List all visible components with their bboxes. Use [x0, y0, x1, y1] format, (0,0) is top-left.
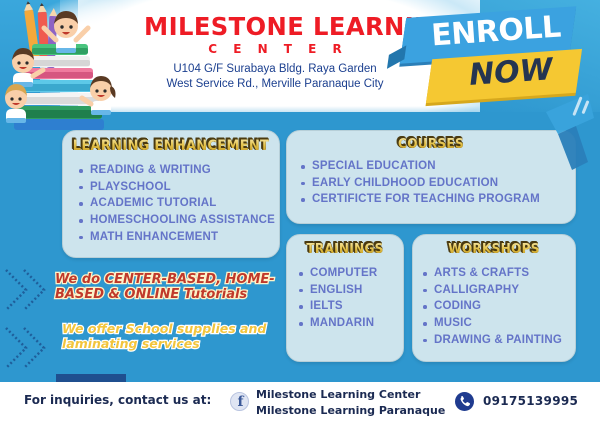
list-item: ARTS & CRAFTS: [421, 265, 575, 282]
inquiry-label: For inquiries, contact us at:: [24, 393, 211, 407]
list-item: ACADEMIC TUTORIAL: [77, 195, 279, 212]
kid-figure-left-lower: [5, 84, 27, 123]
facebook-page-name-2: Milestone Learning Paranaque: [256, 403, 445, 419]
card-trainings: TRAININGS COMPUTER ENGLISH IELTS MANDARI…: [286, 234, 404, 362]
list-item: COMPUTER: [297, 265, 403, 282]
list-item: IELTS: [297, 298, 403, 315]
list-item: CALLIGRAPHY: [421, 282, 575, 299]
phone-number: 09175139995: [483, 394, 578, 408]
facebook-pages[interactable]: Milestone Learning Center Milestone Lear…: [256, 387, 445, 419]
address-line-1: U104 G/F Surabaya Bldg. Raya Garden: [140, 62, 410, 77]
list-item: HOMESCHOOLING ASSISTANCE: [77, 212, 279, 229]
flyer-poster: MILESTONE LEARNING C E N T E R U104 G/F …: [0, 0, 600, 424]
list-item: MUSIC: [421, 315, 575, 332]
kids-with-books-illustration: [0, 0, 130, 130]
phone-icon[interactable]: [455, 392, 474, 411]
list-item: CERTIFICTE FOR TEACHING PROGRAM: [299, 191, 575, 208]
address-line-2: West Service Rd., Merville Paranaque Cit…: [140, 77, 410, 92]
card-title-trainings: TRAININGS: [291, 242, 399, 257]
card-workshops: WORKSHOPS ARTS & CRAFTS CALLIGRAPHY CODI…: [412, 234, 576, 362]
card-title-courses: COURSES: [297, 137, 565, 152]
card-title-workshops: WORKSHOPS: [419, 242, 570, 257]
promo-text-supplies: We offer School supplies and laminating …: [62, 322, 277, 352]
footer-contact-bar: For inquiries, contact us at: f Mileston…: [0, 380, 600, 424]
list-item: MATH ENHANCEMENT: [77, 229, 279, 246]
list-item: READING & WRITING: [77, 162, 279, 179]
phone-handset-glyph: [455, 392, 474, 411]
footer-navy-tab: [56, 374, 126, 382]
brand-title-block: MILESTONE LEARNING C E N T E R U104 G/F …: [140, 14, 410, 91]
brand-name: MILESTONE LEARNING: [144, 14, 406, 39]
list-item: MANDARIN: [297, 315, 403, 332]
brand-subtitle: C E N T E R: [140, 43, 410, 55]
facebook-glyph: f: [231, 392, 250, 411]
list-trainings: COMPUTER ENGLISH IELTS MANDARIN: [287, 265, 403, 332]
list-item: DRAWING & PAINTING: [421, 332, 575, 349]
card-title-learning-enhancement: LEARNING ENHANCEMENT: [71, 138, 272, 154]
card-learning-enhancement: LEARNING ENHANCEMENT READING & WRITING P…: [62, 130, 280, 258]
facebook-page-name-1: Milestone Learning Center: [256, 387, 445, 403]
list-item: PLAYSCHOOL: [77, 179, 279, 196]
promo-text-tutorials: We do CENTER-BASED, HOME-BASED & ONLINE …: [55, 272, 280, 303]
facebook-icon[interactable]: f: [230, 392, 249, 411]
list-workshops: ARTS & CRAFTS CALLIGRAPHY CODING MUSIC D…: [413, 265, 575, 348]
enroll-now-banner[interactable]: ENROLL NOW: [398, 4, 600, 110]
chevron-decoration: [0, 262, 48, 378]
list-learning-enhancement: READING & WRITING PLAYSCHOOL ACADEMIC TU…: [63, 162, 279, 245]
list-item: ENGLISH: [297, 282, 403, 299]
list-item: CODING: [421, 298, 575, 315]
